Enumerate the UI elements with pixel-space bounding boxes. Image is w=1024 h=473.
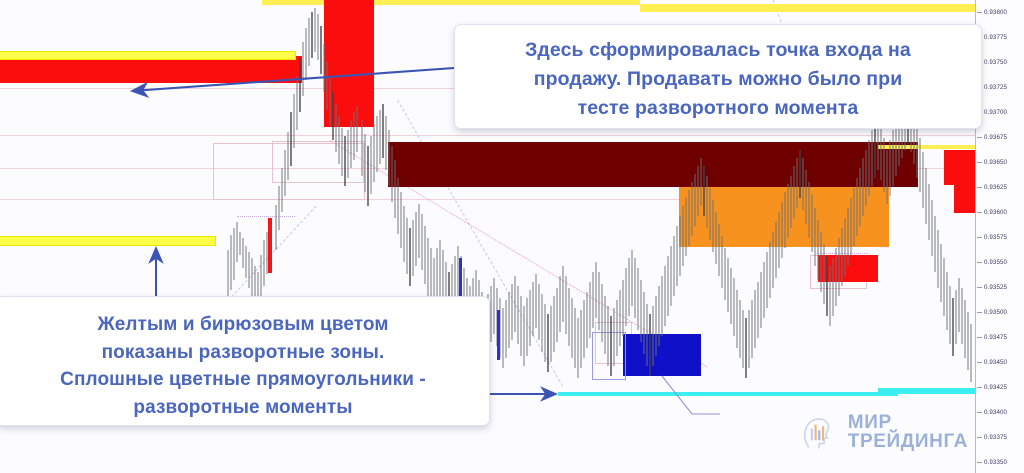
axis-tick: 0.93500 (976, 307, 1024, 318)
axis-tick: 0.93450 (976, 357, 1024, 368)
callout-sell-line-3: тесте разворотного момента (471, 94, 965, 123)
axis-tick: 0.93425 (976, 382, 1024, 393)
axis-tick: 0.93475 (976, 332, 1024, 343)
callout-zones-line-3: Сплошные цветные прямоугольники - (9, 366, 477, 394)
watermark-logo: МИР ТРЕЙДИНГА (800, 404, 968, 460)
axis-tick: 0.93725 (976, 82, 1024, 93)
axis-tick: 0.93650 (976, 157, 1024, 168)
axis-tick: 0.93600 (976, 207, 1024, 218)
axis-tick: 0.93350 (976, 457, 1024, 468)
callout-zones-legend[interactable]: Желтым и бирюзовым цветом показаны разво… (0, 296, 490, 426)
callout-zones-line-1: Желтым и бирюзовым цветом (9, 311, 477, 339)
callout-sell-line-2: продажу. Продавать можно было при (471, 65, 965, 94)
axis-tick: 0.93625 (976, 182, 1024, 193)
axis-tick: 0.93550 (976, 257, 1024, 268)
callout-sell-line-1: Здесь сформировалась точка входа на (471, 36, 965, 65)
callout-zones-line-2: показаны разворотные зоны. (9, 339, 477, 367)
callout-sell-entry[interactable]: Здесь сформировалась точка входа на прод… (454, 24, 982, 129)
axis-tick: 0.93575 (976, 232, 1024, 243)
candle-red-left (268, 218, 272, 273)
head-candles-icon (800, 408, 840, 456)
chart-screenshot: 0.93800 0.93775 0.93750 0.93725 0.93700 … (0, 0, 1024, 473)
axis-tick: 0.93675 (976, 132, 1024, 143)
watermark-line-2: ТРЕЙДИНГА (848, 432, 968, 451)
axis-tick: 0.93750 (976, 57, 1024, 68)
callout-zones-line-4: разворотные моменты (9, 394, 477, 422)
price-axis[interactable]: 0.93800 0.93775 0.93750 0.93725 0.93700 … (975, 0, 1024, 473)
candle-blue-lower (497, 310, 500, 360)
axis-tick: 0.93800 (976, 7, 1024, 18)
axis-tick: 0.93700 (976, 107, 1024, 118)
watermark-line-1: МИР (848, 413, 968, 432)
yellow-zone-up-arrow (140, 243, 180, 301)
watermark-text: МИР ТРЕЙДИНГА (848, 413, 968, 452)
cyan-zone-right-arrow (484, 380, 574, 408)
axis-tick: 0.93775 (976, 32, 1024, 43)
axis-tick: 0.93525 (976, 282, 1024, 293)
axis-tick: 0.93400 (976, 407, 1024, 418)
blue-block-leader-line (660, 374, 740, 424)
axis-tick: 0.93375 (976, 432, 1024, 443)
